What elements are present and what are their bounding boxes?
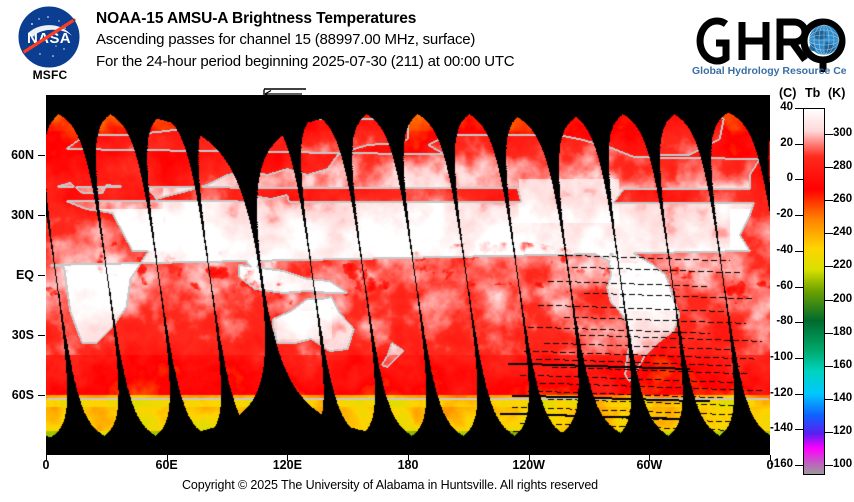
colorbar-kelvin-tick bbox=[825, 333, 833, 334]
colorbar-celsius-tick bbox=[795, 465, 803, 466]
colorbar-kelvin-label: 300 bbox=[833, 128, 854, 139]
colorbar-kelvin-tick bbox=[825, 167, 833, 168]
longitude-label: 0 bbox=[23, 459, 69, 471]
copyright-text: Copyright © 2025 The University of Alaba… bbox=[0, 478, 780, 492]
colorbar-celsius-label: -120 bbox=[763, 388, 793, 399]
screenshot-root: NASA MSFC NOAA-15 AMSU-A Brightness Temp… bbox=[0, 0, 854, 502]
colorbar-celsius-header: (C) bbox=[779, 86, 796, 100]
colorbar-celsius-label: -60 bbox=[763, 281, 793, 292]
colorbar-celsius-tick bbox=[795, 108, 803, 109]
colorbar-celsius-label: 0 bbox=[763, 173, 793, 184]
colorbar-celsius-label: -160 bbox=[763, 459, 793, 470]
colorbar-celsius-tick bbox=[795, 144, 803, 145]
title-subtitle-period: For the 24-hour period beginning 2025-07… bbox=[96, 51, 676, 73]
colorbar-kelvin-tick bbox=[825, 233, 833, 234]
latitude-tick bbox=[38, 335, 45, 336]
latitude-tick bbox=[38, 395, 45, 396]
colorbar-kelvin-label: 160 bbox=[833, 360, 854, 371]
colorbar-kelvin-tick bbox=[825, 200, 833, 201]
colorbar-celsius-tick bbox=[795, 394, 803, 395]
colorbar-celsius-tick bbox=[795, 215, 803, 216]
longitude-label: 120W bbox=[506, 459, 552, 471]
colorbar-celsius-tick bbox=[795, 429, 803, 430]
colorbar-kelvin-tick bbox=[825, 465, 833, 466]
ghrc-logo: Global Hydrology Resource Center bbox=[686, 6, 846, 78]
latitude-label: 60S bbox=[0, 389, 34, 401]
latitude-label: 30S bbox=[0, 329, 34, 341]
colorbar-celsius-label: 40 bbox=[763, 102, 793, 113]
colorbar-celsius-label: -80 bbox=[763, 316, 793, 327]
colorbar-celsius-tick bbox=[795, 251, 803, 252]
colorbar-kelvin-label: 200 bbox=[833, 294, 854, 305]
colorbar-kelvin-tick bbox=[825, 432, 833, 433]
colorbar-kelvin-label: 100 bbox=[833, 459, 854, 470]
colorbar-kelvin-tick bbox=[825, 134, 833, 135]
longitude-label: 180 bbox=[385, 459, 431, 471]
colorbar-kelvin-header: (K) bbox=[828, 86, 845, 100]
nasa-center-label: MSFC bbox=[14, 68, 86, 82]
colorbar-kelvin-tick bbox=[825, 266, 833, 267]
colorbar-celsius-label: 20 bbox=[763, 138, 793, 149]
colorbar[interactable] bbox=[803, 108, 825, 475]
colorbar-celsius-label: -20 bbox=[763, 209, 793, 220]
colorbar-kelvin-label: 120 bbox=[833, 426, 854, 437]
brightness-temperature-map[interactable] bbox=[46, 95, 770, 455]
colorbar-kelvin-label: 180 bbox=[833, 327, 854, 338]
colorbar-kelvin-tick bbox=[825, 300, 833, 301]
colorbar-kelvin-label: 280 bbox=[833, 161, 854, 172]
colorbar-celsius-tick bbox=[795, 287, 803, 288]
colorbar-celsius-tick bbox=[795, 322, 803, 323]
map-raster bbox=[46, 95, 770, 455]
latitude-tick bbox=[38, 215, 45, 216]
colorbar-celsius-tick bbox=[795, 179, 803, 180]
colorbar-celsius-label: -40 bbox=[763, 245, 793, 256]
colorbar-kelvin-label: 260 bbox=[833, 194, 854, 205]
colorbar-variable-header: Tb bbox=[805, 86, 820, 100]
latitude-label: EQ bbox=[0, 269, 34, 281]
colorbar-kelvin-label: 240 bbox=[833, 227, 854, 238]
latitude-tick bbox=[38, 155, 45, 156]
colorbar-celsius-tick bbox=[795, 358, 803, 359]
colorbar-kelvin-tick bbox=[825, 366, 833, 367]
colorbar-kelvin-label: 220 bbox=[833, 260, 854, 271]
nasa-logo: NASA MSFC bbox=[14, 6, 86, 84]
page-title: NOAA-15 AMSU-A Brightness Temperatures bbox=[96, 8, 676, 29]
nasa-meatball-icon: NASA bbox=[18, 6, 80, 68]
colorbar-kelvin-label: 140 bbox=[833, 393, 854, 404]
longitude-label: 60E bbox=[144, 459, 190, 471]
colorbar-gradient bbox=[804, 109, 824, 474]
title-block: NOAA-15 AMSU-A Brightness Temperatures A… bbox=[96, 8, 676, 73]
longitude-label: 60W bbox=[626, 459, 672, 471]
colorbar-kelvin-tick bbox=[825, 399, 833, 400]
longitude-label: 120E bbox=[264, 459, 310, 471]
ghrc-subtitle-text: Global Hydrology Resource Center bbox=[692, 65, 846, 77]
colorbar-celsius-label: -140 bbox=[763, 423, 793, 434]
latitude-label: 30N bbox=[0, 209, 34, 221]
latitude-label: 60N bbox=[0, 149, 34, 161]
title-subtitle-channel: Ascending passes for channel 15 (88997.0… bbox=[96, 29, 676, 51]
colorbar-celsius-label: -100 bbox=[763, 352, 793, 363]
latitude-tick bbox=[38, 275, 45, 276]
